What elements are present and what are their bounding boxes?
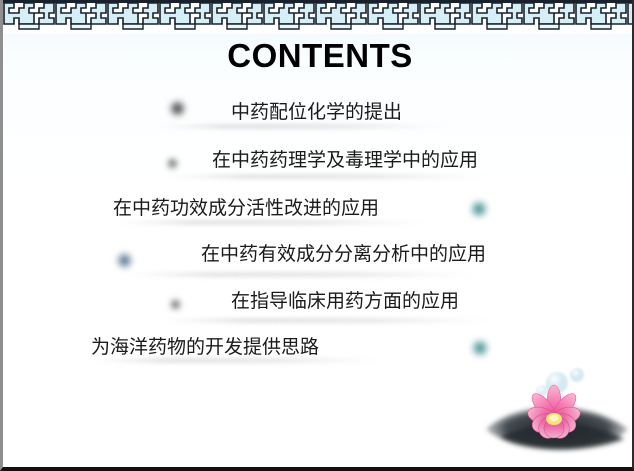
accent-dot-teal-1 [470,200,488,218]
contents-list: 中药配位化学的提出 在中药药理学及毒理学中的应用 在中药功效成分活性改进的应用 … [3,96,634,376]
meander-pattern-icon [3,0,634,34]
wisp-3 [113,220,433,225]
list-item: 在中药功效成分活性改进的应用 [113,197,379,220]
list-item: 在指导临床用药方面的应用 [231,290,459,313]
bullet-dot-1 [169,100,186,117]
list-item: 中药配位化学的提出 [231,101,402,124]
list-item: 为海洋药物的开发提供思路 [91,336,319,359]
presentation-slide: CONTENTS 中药配位化学的提出 在中药药理学及毒理学中的应用 在中药功效成… [0,0,634,471]
lotus-flower-icon [482,367,632,459]
accent-dot-teal-2 [471,339,489,357]
wisp-5 [158,318,498,323]
list-item: 在中药药理学及毒理学中的应用 [212,149,478,172]
wisp-2 [163,174,493,179]
accent-dot-navy-1 [116,252,133,269]
greek-key-border [3,0,634,34]
wisp-4 [123,272,483,277]
bullet-dot-2 [167,158,178,169]
bullet-dot-3 [170,299,181,310]
list-item: 在中药有效成分分离分析中的应用 [201,243,486,266]
page-title: CONTENTS [3,38,634,74]
lotus-flower-decoration [482,367,632,459]
wisp-1 [153,124,453,129]
